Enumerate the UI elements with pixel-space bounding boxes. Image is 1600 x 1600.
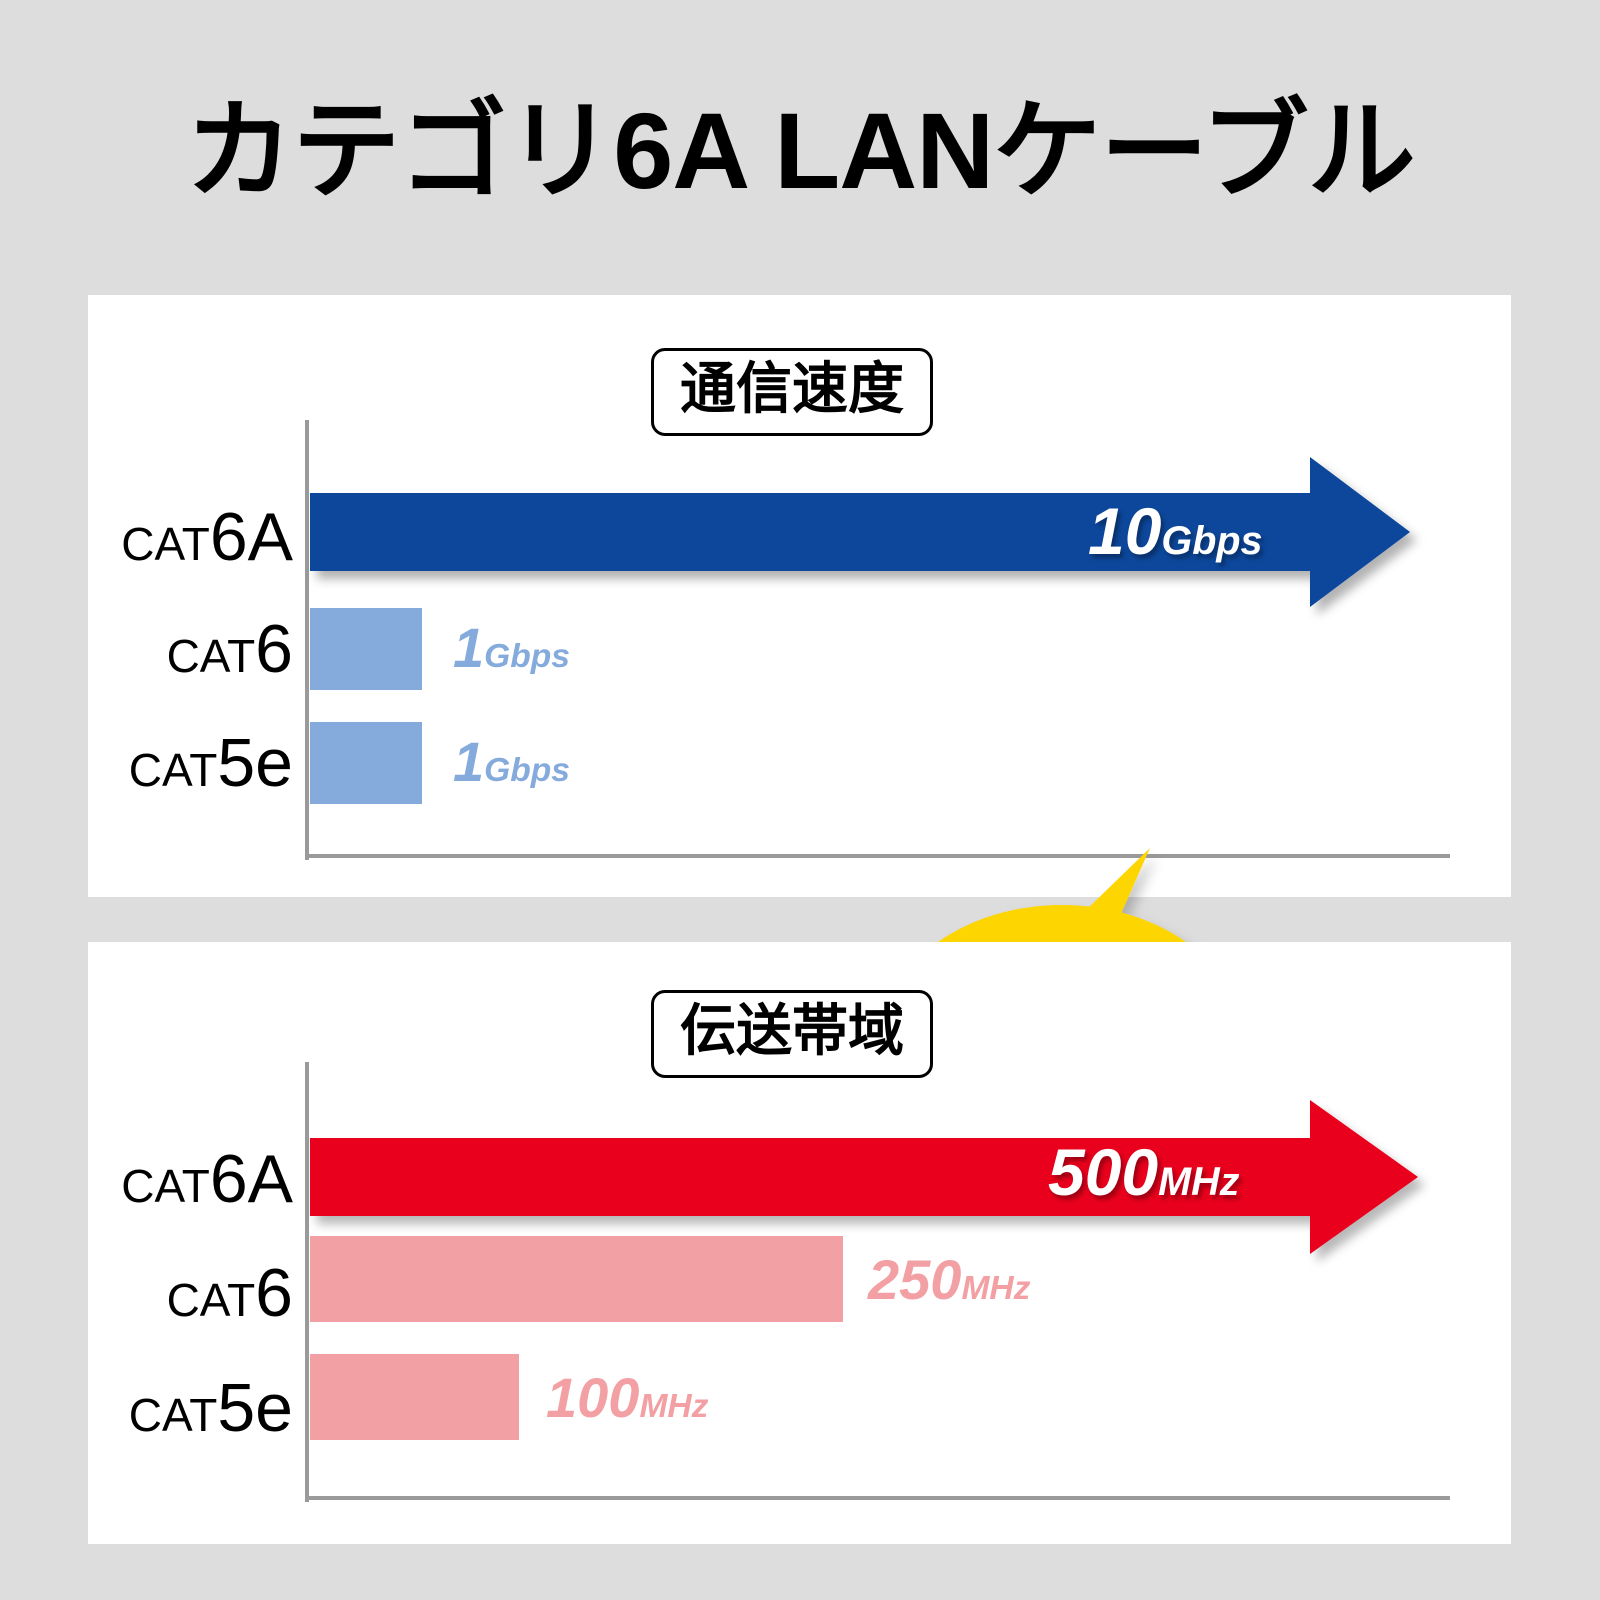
section-badge-bandwidth: 伝送帯域 [651, 990, 933, 1078]
value-number: 250 [868, 1248, 961, 1311]
value-label-cat5e-band: 100MHz [546, 1370, 708, 1426]
bar-cat6-band [310, 1236, 843, 1322]
cat-prefix: CAT [129, 1389, 218, 1441]
value-number: 100 [546, 1366, 639, 1429]
category-label-cat6-band: CAT6 [118, 1259, 293, 1327]
value-unit: MHz [961, 1270, 1030, 1307]
cat-suffix: 6 [255, 611, 293, 687]
bar-arrow-cat6a-band [310, 1098, 1428, 1256]
category-label-cat5e-speed: CAT5e [118, 729, 293, 797]
cat-suffix: 5e [217, 725, 293, 801]
section-badge-speed: 通信速度 [651, 348, 933, 436]
category-label-cat6a-band: CAT6A [118, 1145, 293, 1213]
page-title: カテゴリ6A LANケーブル [0, 92, 1600, 211]
cat-prefix: CAT [121, 1160, 210, 1212]
cat-suffix: 6 [255, 1255, 293, 1331]
y-axis-line-band [305, 1062, 309, 1502]
cat-prefix: CAT [167, 1274, 256, 1326]
cat-prefix: CAT [129, 744, 218, 796]
cat-prefix: CAT [167, 630, 256, 682]
panel-transmission-bandwidth: 伝送帯域 CAT6A 500MHz CAT6 250MHz CAT5e 100M… [88, 942, 1511, 1544]
value-number: 1 [453, 616, 484, 679]
bar-cat6-speed [310, 608, 422, 690]
panel-communication-speed: 通信速度 CAT6A 10Gbps CAT6 1Gbps CAT5e 1Gbps [88, 295, 1511, 897]
cat-suffix: 6A [210, 1141, 293, 1217]
value-number: 1 [453, 730, 484, 793]
value-label-cat6-band: 250MHz [868, 1252, 1030, 1308]
value-unit: MHz [1158, 1160, 1239, 1204]
value-unit: Gbps [1161, 519, 1262, 563]
value-number: 10 [1088, 494, 1161, 568]
x-axis-line-speed [305, 854, 1450, 858]
value-label-cat6a-speed: 10Gbps [1088, 498, 1263, 564]
category-label-cat6-speed: CAT6 [118, 615, 293, 683]
category-label-cat5e-band: CAT5e [118, 1374, 293, 1442]
value-number: 500 [1048, 1135, 1158, 1209]
cat-suffix: 5e [217, 1370, 293, 1446]
value-unit: Gbps [484, 638, 570, 675]
value-label-cat5e-speed: 1Gbps [453, 734, 570, 790]
value-unit: Gbps [484, 752, 570, 789]
category-label-cat6a-speed: CAT6A [118, 503, 293, 571]
value-unit: MHz [639, 1388, 708, 1425]
bar-cat5e-band [310, 1354, 519, 1440]
cat-suffix: 6A [210, 499, 293, 575]
bar-cat5e-speed [310, 722, 422, 804]
cat-prefix: CAT [121, 518, 210, 570]
y-axis-line-speed [305, 420, 309, 860]
x-axis-line-band [305, 1496, 1450, 1500]
value-label-cat6a-band: 500MHz [1048, 1139, 1239, 1205]
value-label-cat6-speed: 1Gbps [453, 620, 570, 676]
